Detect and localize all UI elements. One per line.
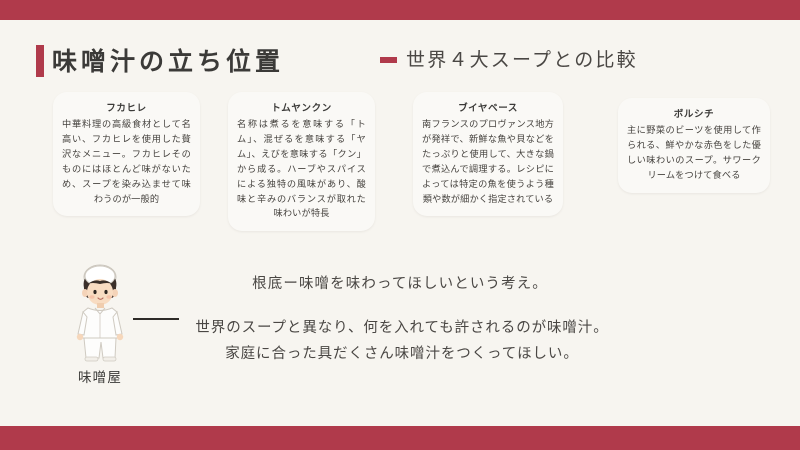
slide-canvas: 味噌汁の立ち位置 世界４大スープとの比較 フカヒレ 中華料理の高級食材として名高… [0,0,800,450]
conclusion-lead-text: 根底ー味噌を味わってほしいという考え。 [190,272,610,293]
speaker-block: 味噌屋 [60,262,140,382]
speaker-name-label: 味噌屋 [60,366,140,386]
chef-character-icon [68,262,132,362]
soup-card-list: フカヒレ 中華料理の高級食材として名高い、フカヒレを使用した贅沢なメニュー。フカ… [0,0,800,240]
card-body: 南フランスのプロヴァンス地方が発祥で、新鮮な魚や貝などをたっぷりと使用して、大き… [422,117,554,206]
soup-card-bouillabaisse: ブイヤベース 南フランスのプロヴァンス地方が発祥で、新鮮な魚や貝などをたっぷりと… [413,92,563,216]
card-title: フカヒレ [62,100,191,114]
conclusion-line-1: 世界のスープと異なり、何を入れても許されるのが味噌汁。 [182,316,622,337]
card-body: 名称は煮るを意味する「トム」、混ぜるを意味する「ヤム」、えびを意味する「クン」か… [237,117,366,221]
card-title: ブイヤベース [422,100,554,114]
card-title: トムヤンクン [237,100,366,114]
connector-line [133,318,179,320]
card-title: ボルシチ [627,106,761,120]
soup-card-fukahire: フカヒレ 中華料理の高級食材として名高い、フカヒレを使用した贅沢なメニュー。フカ… [53,92,200,216]
card-body: 主に野菜のビーツを使用して作られる、鮮やかな赤色をした優しい味わいのスープ。サワ… [627,123,761,183]
card-body: 中華料理の高級食材として名高い、フカヒレを使用した贅沢なメニュー。フカヒレそのも… [62,117,191,206]
soup-card-tomyumkung: トムヤンクン 名称は煮るを意味する「トム」、混ぜるを意味する「ヤム」、えびを意味… [228,92,375,231]
conclusion-line-2: 家庭に合った具だくさん味噌汁をつくってほしい。 [182,342,622,363]
bottom-accent-bar [0,426,800,450]
soup-card-borscht: ボルシチ 主に野菜のビーツを使用して作られる、鮮やかな赤色をした優しい味わいのス… [618,98,770,193]
